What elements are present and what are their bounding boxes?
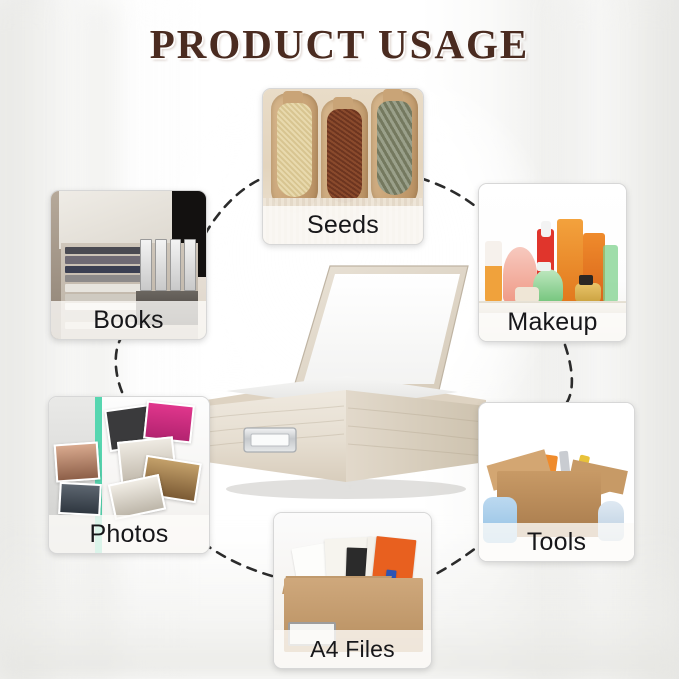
connector-photos-books xyxy=(116,340,122,392)
tile-label-seeds: Seeds xyxy=(263,206,423,244)
usage-tile-seeds[interactable]: Seeds xyxy=(262,88,424,245)
tile-label-tools: Tools xyxy=(479,523,634,561)
infographic-canvas: PRODUCT USAGE xyxy=(0,0,679,679)
box-body xyxy=(206,376,486,482)
tile-label-makeup: Makeup xyxy=(479,303,626,341)
connector-makeup-tools xyxy=(565,345,572,404)
usage-tile-tools[interactable]: Tools xyxy=(478,402,635,562)
usage-tile-books[interactable]: Books xyxy=(50,190,207,340)
tile-label-photos: Photos xyxy=(49,515,209,553)
usage-tile-makeup[interactable]: Makeup xyxy=(478,183,627,342)
tile-label-books: Books xyxy=(51,301,206,339)
usage-tile-photos[interactable]: Photos xyxy=(48,396,210,554)
tile-label-a4-files: A4 Files xyxy=(274,630,431,668)
product-storage-box xyxy=(196,250,496,500)
usage-tile-a4-files[interactable]: A4 Files xyxy=(273,512,432,669)
label-holder-icon xyxy=(244,428,296,452)
